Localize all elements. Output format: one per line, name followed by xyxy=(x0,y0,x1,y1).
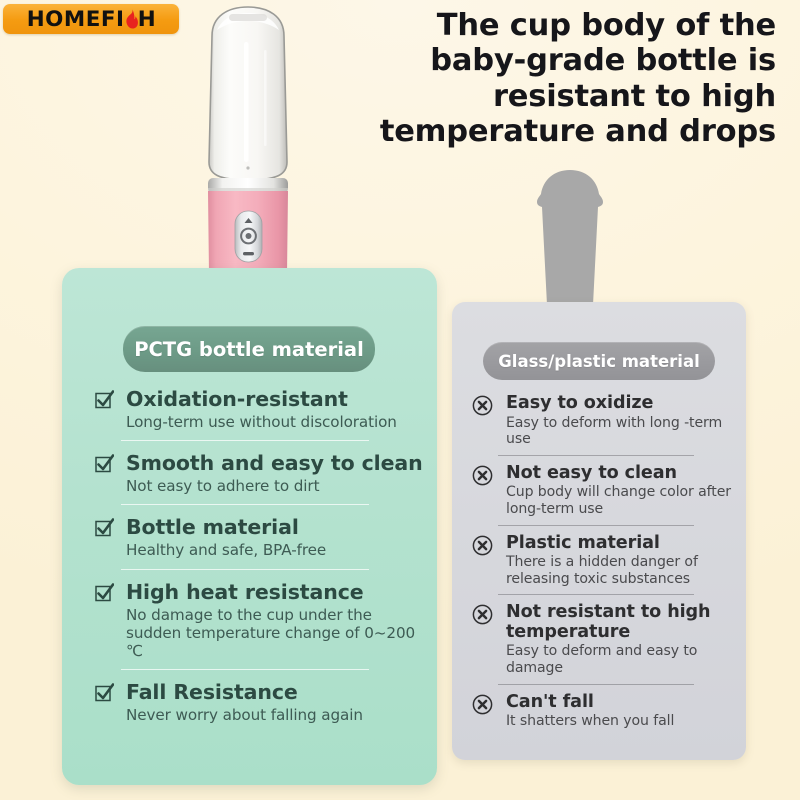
checkbox-checked-icon xyxy=(95,518,114,537)
list-item-sub: Not easy to adhere to dirt xyxy=(126,477,425,495)
headline-line-1: The cup body of the xyxy=(356,8,776,43)
circle-x-icon xyxy=(472,604,493,625)
list-item: Not resistant to high temperature Easy t… xyxy=(470,603,736,676)
divider xyxy=(121,440,369,441)
list-item: High heat resistance No damage to the cu… xyxy=(95,581,425,661)
list-item-sub: Long-term use without discoloration xyxy=(126,413,425,431)
checkbox-checked-icon xyxy=(95,390,114,409)
list-item-title: Smooth and easy to clean xyxy=(126,452,425,475)
glass-plastic-badge-label: Glass/plastic material xyxy=(498,352,699,371)
pctg-list: Oxidation-resistant Long-term use withou… xyxy=(95,388,425,724)
portable-blender-image xyxy=(186,2,310,298)
product-infographic: HOMEFI H The cup body of the baby-grade … xyxy=(0,0,800,800)
checkbox-checked-icon xyxy=(95,583,114,602)
glass-plastic-panel: Glass/plastic material Easy to oxidize E… xyxy=(452,302,746,760)
list-item-title: Not easy to clean xyxy=(506,464,736,484)
divider xyxy=(498,684,694,685)
list-item-title: Bottle material xyxy=(126,516,425,539)
divider xyxy=(498,594,694,595)
headline-line-3: resistant to high xyxy=(356,79,776,114)
pctg-badge: PCTG bottle material xyxy=(123,326,375,372)
list-item-title: Not resistant to high temperature xyxy=(506,603,736,642)
brand-name-part2: H xyxy=(137,9,155,30)
divider xyxy=(121,504,369,505)
pctg-panel: PCTG bottle material Oxidation-resistant… xyxy=(62,268,437,785)
list-item-sub: Healthy and safe, BPA-free xyxy=(126,541,425,559)
list-item-sub: Easy to deform with long -term use xyxy=(506,415,736,448)
list-item: Not easy to clean Cup body will change c… xyxy=(470,464,736,518)
list-item-title: Plastic material xyxy=(506,534,736,554)
headline: The cup body of the baby-grade bottle is… xyxy=(356,8,776,150)
list-item: Can't fall It shatters when you fall xyxy=(470,693,736,730)
circle-x-icon xyxy=(472,694,493,715)
list-item: Smooth and easy to clean Not easy to adh… xyxy=(95,452,425,495)
checkbox-checked-icon xyxy=(95,683,114,702)
list-item-title: Can't fall xyxy=(506,693,736,713)
brand-logo-text: HOMEFI H xyxy=(26,9,155,30)
list-item-title: Oxidation-resistant xyxy=(126,388,425,411)
pctg-badge-label: PCTG bottle material xyxy=(134,338,364,361)
circle-x-icon xyxy=(472,395,493,416)
list-item-sub: Easy to deform and easy to damage xyxy=(506,643,736,676)
flame-icon xyxy=(124,9,137,29)
headline-line-2: baby-grade bottle is xyxy=(356,43,776,78)
list-item: Easy to oxidize Easy to deform with long… xyxy=(470,394,736,448)
list-item: Bottle material Healthy and safe, BPA-fr… xyxy=(95,516,425,559)
list-item-sub: There is a hidden danger of releasing to… xyxy=(506,554,736,587)
list-item: Fall Resistance Never worry about fallin… xyxy=(95,681,425,724)
list-item-title: High heat resistance xyxy=(126,581,425,604)
list-item-sub: It shatters when you fall xyxy=(506,713,736,730)
glass-plastic-badge: Glass/plastic material xyxy=(483,342,715,380)
list-item-sub: Never worry about falling again xyxy=(126,706,425,724)
list-item: Plastic material There is a hidden dange… xyxy=(470,534,736,588)
list-item-sub: No damage to the cup under the sudden te… xyxy=(126,606,425,661)
divider xyxy=(498,455,694,456)
checkbox-checked-icon xyxy=(95,454,114,473)
glass-plastic-list: Easy to oxidize Easy to deform with long… xyxy=(470,394,736,730)
brand-logo: HOMEFI H xyxy=(3,4,179,34)
brand-name-part1: HOMEFI xyxy=(26,9,124,30)
circle-x-icon xyxy=(472,465,493,486)
list-item: Oxidation-resistant Long-term use withou… xyxy=(95,388,425,431)
list-item-sub: Cup body will change color after long-te… xyxy=(506,484,736,517)
circle-x-icon xyxy=(472,535,493,556)
divider xyxy=(121,569,369,570)
divider xyxy=(498,525,694,526)
divider xyxy=(121,669,369,670)
headline-line-4: temperature and drops xyxy=(356,114,776,149)
list-item-title: Fall Resistance xyxy=(126,681,425,704)
list-item-title: Easy to oxidize xyxy=(506,394,736,414)
